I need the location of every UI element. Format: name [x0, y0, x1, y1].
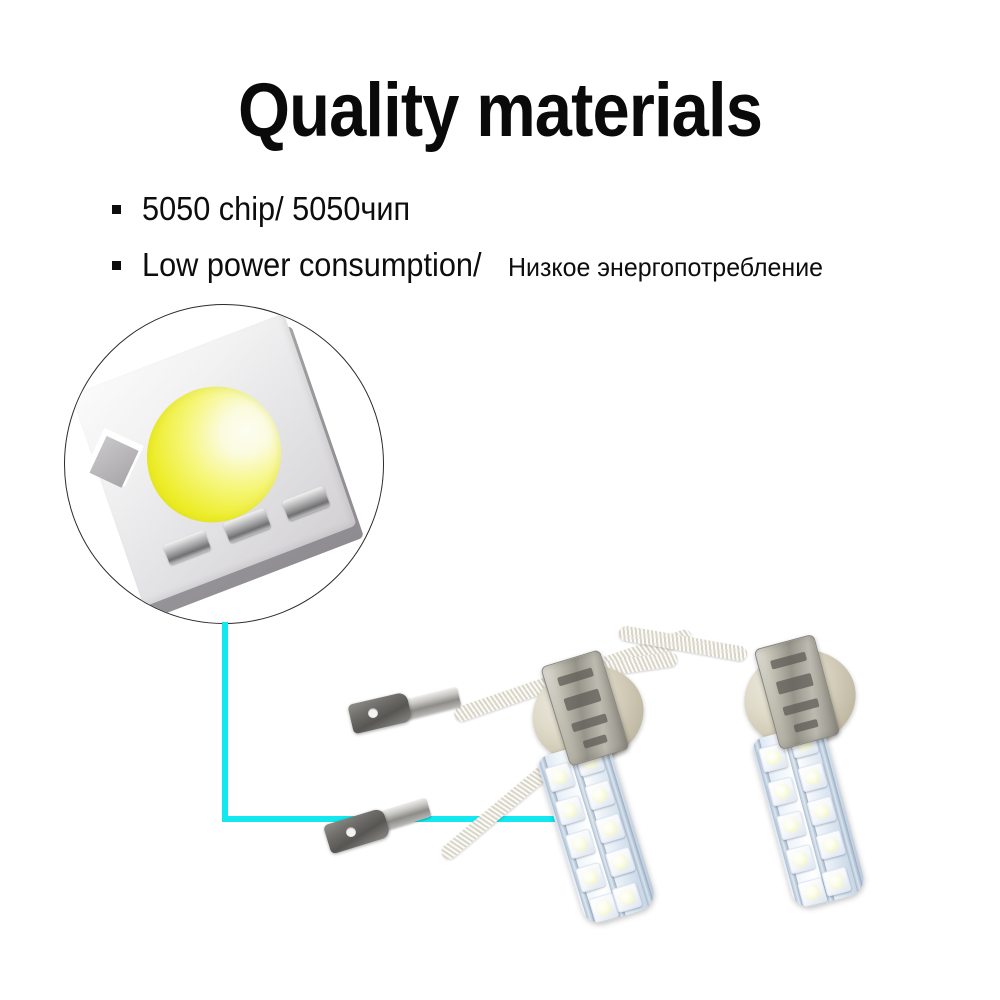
flat-spade-terminal — [323, 808, 391, 855]
feature-bullet-subtext: Низкое энергопотребление — [508, 249, 823, 285]
cage-slot — [557, 667, 594, 686]
feature-bullet-item: Low power consumption/ Низкое энергопотр… — [112, 247, 836, 285]
smd-chip-package — [71, 312, 363, 615]
led-chip-5050 — [785, 844, 816, 875]
cage-slot — [782, 698, 819, 716]
page-title: Quality materials — [60, 72, 940, 150]
spade-terminal-hole — [368, 708, 378, 718]
callout-leader-line-vertical — [222, 622, 228, 822]
led-chip-photo — [65, 305, 384, 624]
led-bulb-body — [750, 721, 867, 910]
cage-slot — [770, 652, 807, 670]
product-photo-h3-led-bulbs — [330, 630, 1000, 960]
cage-slot — [793, 719, 818, 733]
led-chip-5050 — [776, 810, 807, 841]
spade-terminal-hole — [346, 827, 356, 837]
led-chip-5050 — [767, 776, 798, 807]
cage-slot — [776, 673, 814, 695]
cage-slot — [571, 713, 608, 732]
led-chip-5050 — [821, 866, 852, 897]
feature-bullet-item: 5050 chip/ 5050чип — [112, 191, 431, 227]
cage-slot — [583, 734, 608, 749]
feature-bullet-text: Low power consumption/ — [142, 247, 481, 283]
led-bulb-body — [536, 737, 658, 927]
led-chip-callout-circle — [64, 304, 384, 624]
feature-bullet-text: 5050 chip/ 5050чип — [142, 191, 410, 227]
square-bullet-icon — [112, 205, 121, 214]
cage-slot — [563, 688, 601, 711]
square-bullet-icon — [112, 261, 121, 270]
flat-spade-terminal — [347, 692, 412, 735]
